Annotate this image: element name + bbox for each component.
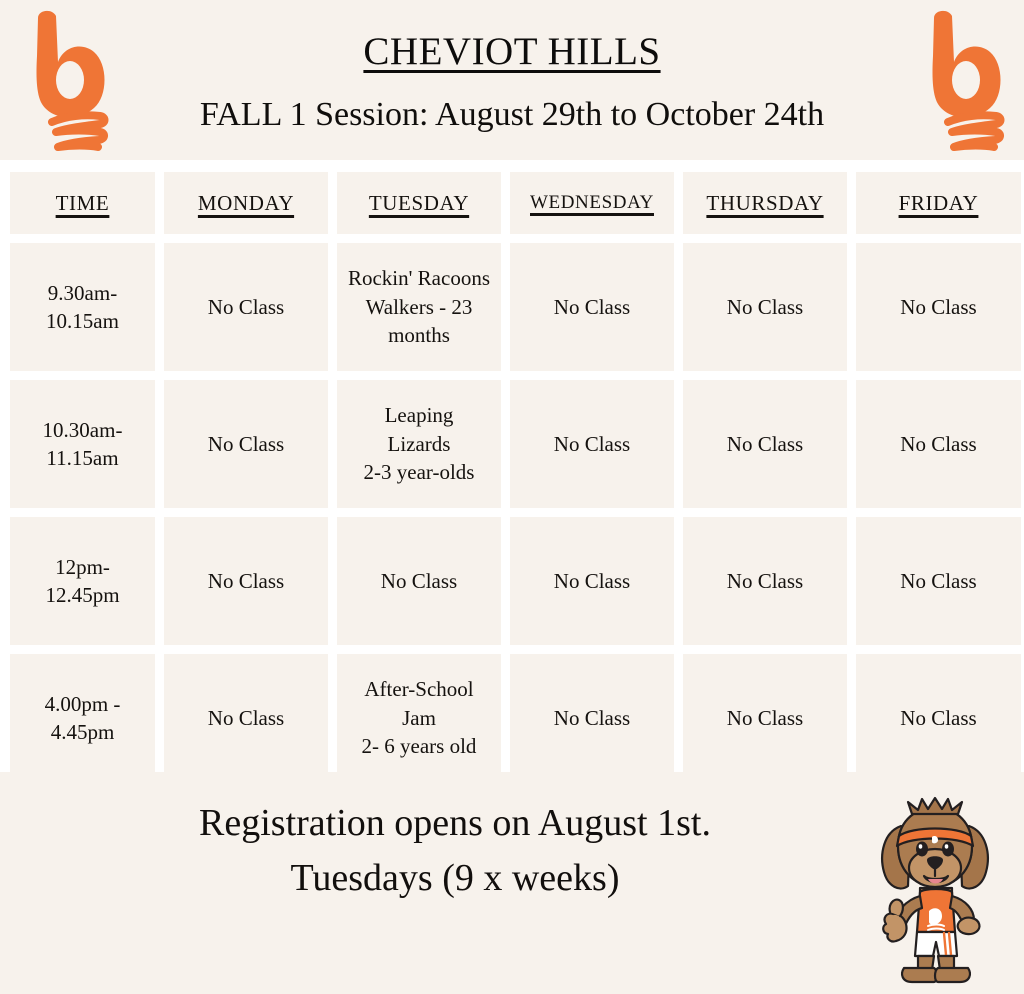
schedule-table: TIME MONDAY TUESDAY WEDNESDAY THURSDAY F… — [10, 172, 1014, 791]
column-header-tuesday: TUESDAY — [337, 172, 501, 234]
cell-tuesday: Rockin' RacoonsWalkers - 23months — [337, 243, 501, 371]
cell-time-slot: 4.00pm -4.45pm — [10, 654, 155, 782]
column-header-wednesday: WEDNESDAY — [510, 172, 674, 234]
cell-wednesday: No Class — [510, 380, 674, 508]
column-header-time: TIME — [10, 172, 155, 234]
cell-wednesday: No Class — [510, 243, 674, 371]
footer-band: Registration opens on August 1st. Tuesda… — [0, 772, 1024, 994]
table-row: 4.00pm -4.45pm No Class After-SchoolJam2… — [10, 654, 1014, 782]
cell-tuesday: LeapingLizards2-3 year-olds — [337, 380, 501, 508]
session-subtitle: FALL 1 Session: August 29th to October 2… — [200, 96, 824, 133]
column-header-monday: MONDAY — [164, 172, 328, 234]
cell-monday: No Class — [164, 380, 328, 508]
cell-wednesday: No Class — [510, 654, 674, 782]
cell-thursday: No Class — [683, 654, 847, 782]
cell-friday: No Class — [856, 243, 1021, 371]
registration-line-2: Tuesdays (9 x weeks) — [40, 851, 870, 906]
table-header-row: TIME MONDAY TUESDAY WEDNESDAY THURSDAY F… — [10, 172, 1014, 234]
cell-thursday: No Class — [683, 380, 847, 508]
cell-monday: No Class — [164, 243, 328, 371]
page-title: CHEVIOT HILLS — [363, 31, 660, 74]
cell-tuesday: After-SchoolJam2- 6 years old — [337, 654, 501, 782]
cell-thursday: No Class — [683, 517, 847, 645]
cell-friday: No Class — [856, 380, 1021, 508]
cell-time-slot: 9.30am-10.15am — [10, 243, 155, 371]
schedule-flyer: CHEVIOT HILLS FALL 1 Session: August 29t… — [0, 0, 1024, 994]
header-band: CHEVIOT HILLS FALL 1 Session: August 29t… — [0, 0, 1024, 160]
b-logo-icon-left — [8, 4, 120, 152]
b-logo-icon-right — [904, 4, 1016, 152]
cell-friday: No Class — [856, 517, 1021, 645]
cell-friday: No Class — [856, 654, 1021, 782]
column-header-friday: FRIDAY — [856, 172, 1021, 234]
table-row: 9.30am-10.15am No Class Rockin' RacoonsW… — [10, 243, 1014, 371]
cell-thursday: No Class — [683, 243, 847, 371]
cell-monday: No Class — [164, 517, 328, 645]
dog-mascot-illustration — [860, 792, 1010, 988]
header-text-group: CHEVIOT HILLS FALL 1 Session: August 29t… — [162, 31, 862, 133]
table-row: 10.30am-11.15am No Class LeapingLizards2… — [10, 380, 1014, 508]
cell-tuesday: No Class — [337, 517, 501, 645]
cell-time-slot: 12pm-12.45pm — [10, 517, 155, 645]
registration-note: Registration opens on August 1st. Tuesda… — [40, 796, 870, 906]
cell-time-slot: 10.30am-11.15am — [10, 380, 155, 508]
cell-wednesday: No Class — [510, 517, 674, 645]
registration-line-1: Registration opens on August 1st. — [40, 796, 870, 851]
table-row: 12pm-12.45pm No Class No Class No Class … — [10, 517, 1014, 645]
column-header-thursday: THURSDAY — [683, 172, 847, 234]
cell-monday: No Class — [164, 654, 328, 782]
